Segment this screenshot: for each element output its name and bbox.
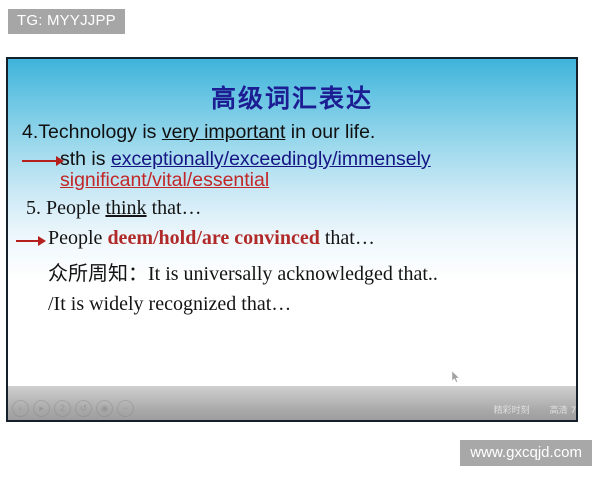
back-icon[interactable]: ‹ [12,400,29,417]
item4-prefix: 4.Technology is [22,121,162,143]
minus-icon[interactable]: − [117,400,134,417]
item5-prefix: 5. People [26,197,105,219]
player-control-icons[interactable]: ‹ ▸ 2 ↺ ◉ − [12,400,134,417]
item5-underlined: think [105,197,146,219]
slide-line-arrow1: sth is exceptionally/exceedingly/immense… [8,148,576,171]
highlight-moments-button[interactable]: 精彩时刻 [494,403,530,416]
speed-icon[interactable]: 2 [54,400,71,417]
player-control-bar[interactable]: ‹ ▸ 2 ↺ ◉ − 精彩时刻 高清 72 [8,386,576,420]
arrow2-prefix: People [48,227,107,249]
red-arrow-icon-2 [16,231,50,251]
slide-line-arrow1-red: significant/vital/essential [8,169,576,192]
arrow2-red-phrase: deem/hold/are convinced [107,227,319,249]
slide-title: 高级词汇表达 [8,79,576,115]
slide-line-alt: /It is widely recognized that… [8,293,576,316]
tg-badge: TG: MYYJJPP [8,9,125,34]
arrow1-prefix: sth is [60,148,111,170]
record-icon[interactable]: ◉ [96,400,113,417]
player-right-controls[interactable]: 精彩时刻 高清 72 [494,403,578,416]
site-watermark: www.gxcqjd.com [460,440,592,466]
play-icon[interactable]: ▸ [33,400,50,417]
red-arrow-icon [22,151,66,171]
slide-line-item5: 5. People think that… [8,197,576,220]
item5-suffix: that… [147,197,202,219]
slide-line-item4: 4.Technology is very important in our li… [8,121,576,144]
slide-line-chinese: 众所周知：It is universally acknowledged that… [8,257,576,286]
slide-canvas: 高级词汇表达 4.Technology is very important in… [8,59,576,386]
slide-line-arrow2: People deem/hold/are convinced that… [8,227,576,250]
arrow2-suffix: that… [320,227,375,249]
rewind-icon[interactable]: ↺ [75,400,92,417]
video-player[interactable]: 高级词汇表达 4.Technology is very important in… [6,57,578,422]
item4-underlined: very important [162,121,286,143]
item4-suffix: in our life. [285,121,375,143]
slide-body: 4.Technology is very important in our li… [8,121,576,323]
quality-selector[interactable]: 高清 72 [550,403,578,416]
mouse-cursor-icon [452,371,460,383]
arrow1-blue-phrase: exceptionally/exceedingly/immensely [111,148,431,170]
